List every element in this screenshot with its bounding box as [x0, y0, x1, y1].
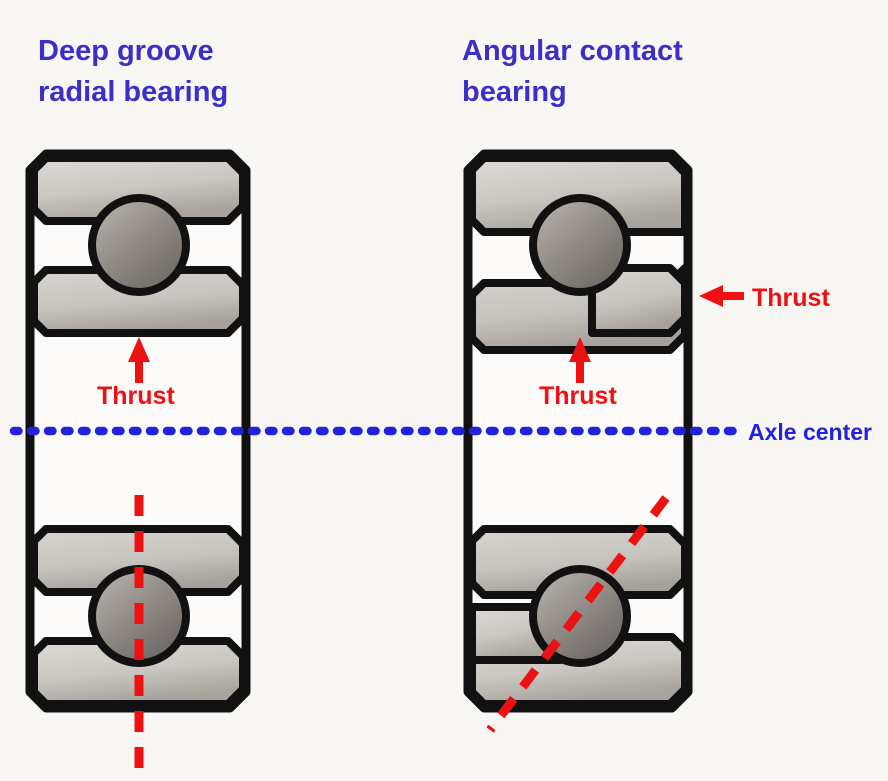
title-angular-contact-line2: bearing: [462, 76, 567, 108]
axle-center-label: Axle center: [748, 419, 872, 445]
title-angular-contact-line1: Angular contact: [462, 35, 683, 67]
diagram-canvas: Deep groove radial bearing: [0, 0, 888, 781]
deep-groove-thrust-label: Thrust: [97, 382, 175, 410]
deep-groove-top-ball: [92, 198, 186, 292]
title-deep-groove-line2: radial bearing: [38, 76, 228, 108]
angular-contact-thrust-label-horizontal: Thrust: [752, 284, 830, 312]
bearing-comparison-diagram: Deep groove radial bearing: [0, 0, 888, 781]
title-deep-groove-line1: Deep groove: [38, 35, 214, 67]
angular-contact-thrust-label-vertical: Thrust: [539, 382, 617, 410]
angular-contact-top-ball: [533, 198, 627, 292]
